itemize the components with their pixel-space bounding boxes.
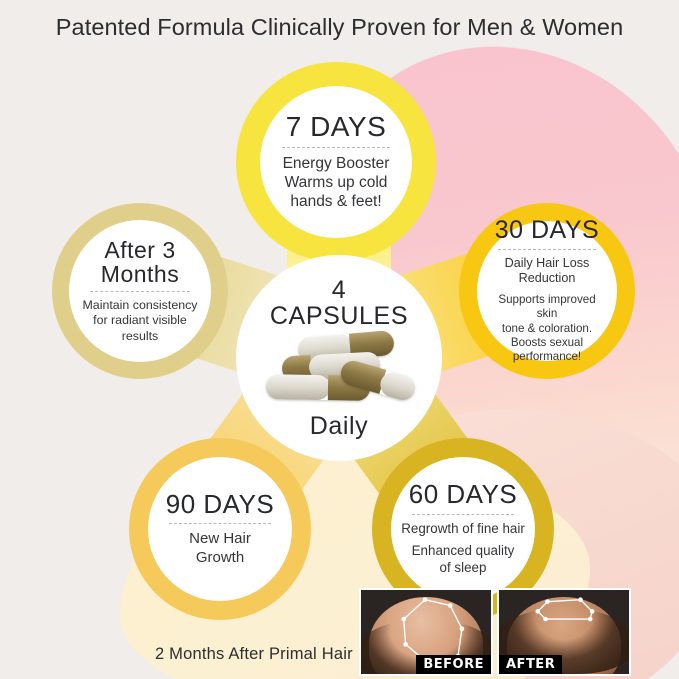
scalp-before-photo: BEFORE (359, 588, 493, 676)
dosage-count: 4 (332, 277, 347, 303)
scalp-after-photo: AFTER (497, 588, 631, 676)
divider-90days (169, 523, 271, 524)
milestone-line-30days-1: Daily Hair Loss Reduction (487, 256, 607, 287)
center-dosage-circle[interactable]: 4 CAPSULES D (236, 255, 442, 461)
milestone-circle-3months[interactable]: After 3 Months Maintain consistency for … (52, 203, 228, 379)
capsules-photo (264, 332, 414, 410)
milestone-line-3months-1: Maintain consistency (82, 298, 197, 313)
milestone-line-7days-3: hands & feet! (290, 192, 381, 211)
center-dosage-content: 4 CAPSULES D (236, 255, 442, 461)
divider-60days (412, 514, 514, 515)
milestone-content-30days: 30 DAYS Daily Hair Loss Reduction Suppor… (477, 221, 617, 361)
milestone-line-60days-1: Regrowth of fine hair (401, 521, 525, 538)
milestone-title-3months-line2: Months (101, 262, 179, 286)
divider-3months (90, 291, 190, 292)
milestone-line-90days-1: New Hair (189, 530, 251, 549)
milestone-line-7days-1: Energy Booster (283, 154, 390, 173)
after-badge: AFTER (499, 655, 562, 674)
milestone-content-3months: After 3 Months Maintain consistency for … (69, 220, 211, 362)
before-badge: BEFORE (416, 655, 491, 674)
milestone-title-60days: 60 DAYS (409, 481, 518, 508)
milestone-sub-60days-2: of sleep (440, 560, 487, 577)
milestone-sub-30days-3: Boosts sexual (511, 336, 583, 350)
milestone-line-7days-2: Warms up cold (285, 173, 388, 192)
milestone-sub-30days-1: Supports improved skin (487, 293, 607, 322)
milestone-sub-30days-4: performance! (513, 350, 581, 364)
infographic-canvas: Patented Formula Clinically Proven for M… (0, 0, 679, 679)
bottom-caption: 2 Months After Primal Hair (155, 645, 353, 664)
milestone-line-90days-2: Growth (196, 549, 244, 568)
milestone-content-7days: 7 DAYS Energy Booster Warms up cold hand… (260, 86, 412, 238)
milestone-title-90days: 90 DAYS (166, 491, 275, 518)
dosage-frequency: Daily (310, 413, 369, 439)
dosage-unit: CAPSULES (270, 303, 408, 329)
divider-30days (498, 249, 596, 250)
milestone-sub-60days-1: Enhanced quality (412, 543, 515, 560)
milestone-line-3months-2: for radiant visible (93, 313, 187, 328)
milestone-title-3months-line1: After 3 (104, 238, 175, 262)
milestone-content-60days: 60 DAYS Regrowth of fine hair Enhanced q… (391, 457, 535, 601)
page-title: Patented Formula Clinically Proven for M… (56, 14, 624, 40)
milestone-circle-30days[interactable]: 30 DAYS Daily Hair Loss Reduction Suppor… (459, 203, 635, 379)
divider-7days (282, 147, 390, 148)
milestone-sub-30days-2: tone & coloration. (502, 322, 592, 336)
milestone-circle-90days[interactable]: 90 DAYS New Hair Growth (129, 438, 311, 620)
milestone-title-30days: 30 DAYS (495, 217, 599, 243)
milestone-line-3months-3: results (122, 329, 159, 344)
milestone-content-90days: 90 DAYS New Hair Growth (148, 457, 292, 601)
milestone-circle-7days[interactable]: 7 DAYS Energy Booster Warms up cold hand… (236, 62, 436, 262)
milestone-title-7days: 7 DAYS (286, 112, 387, 141)
